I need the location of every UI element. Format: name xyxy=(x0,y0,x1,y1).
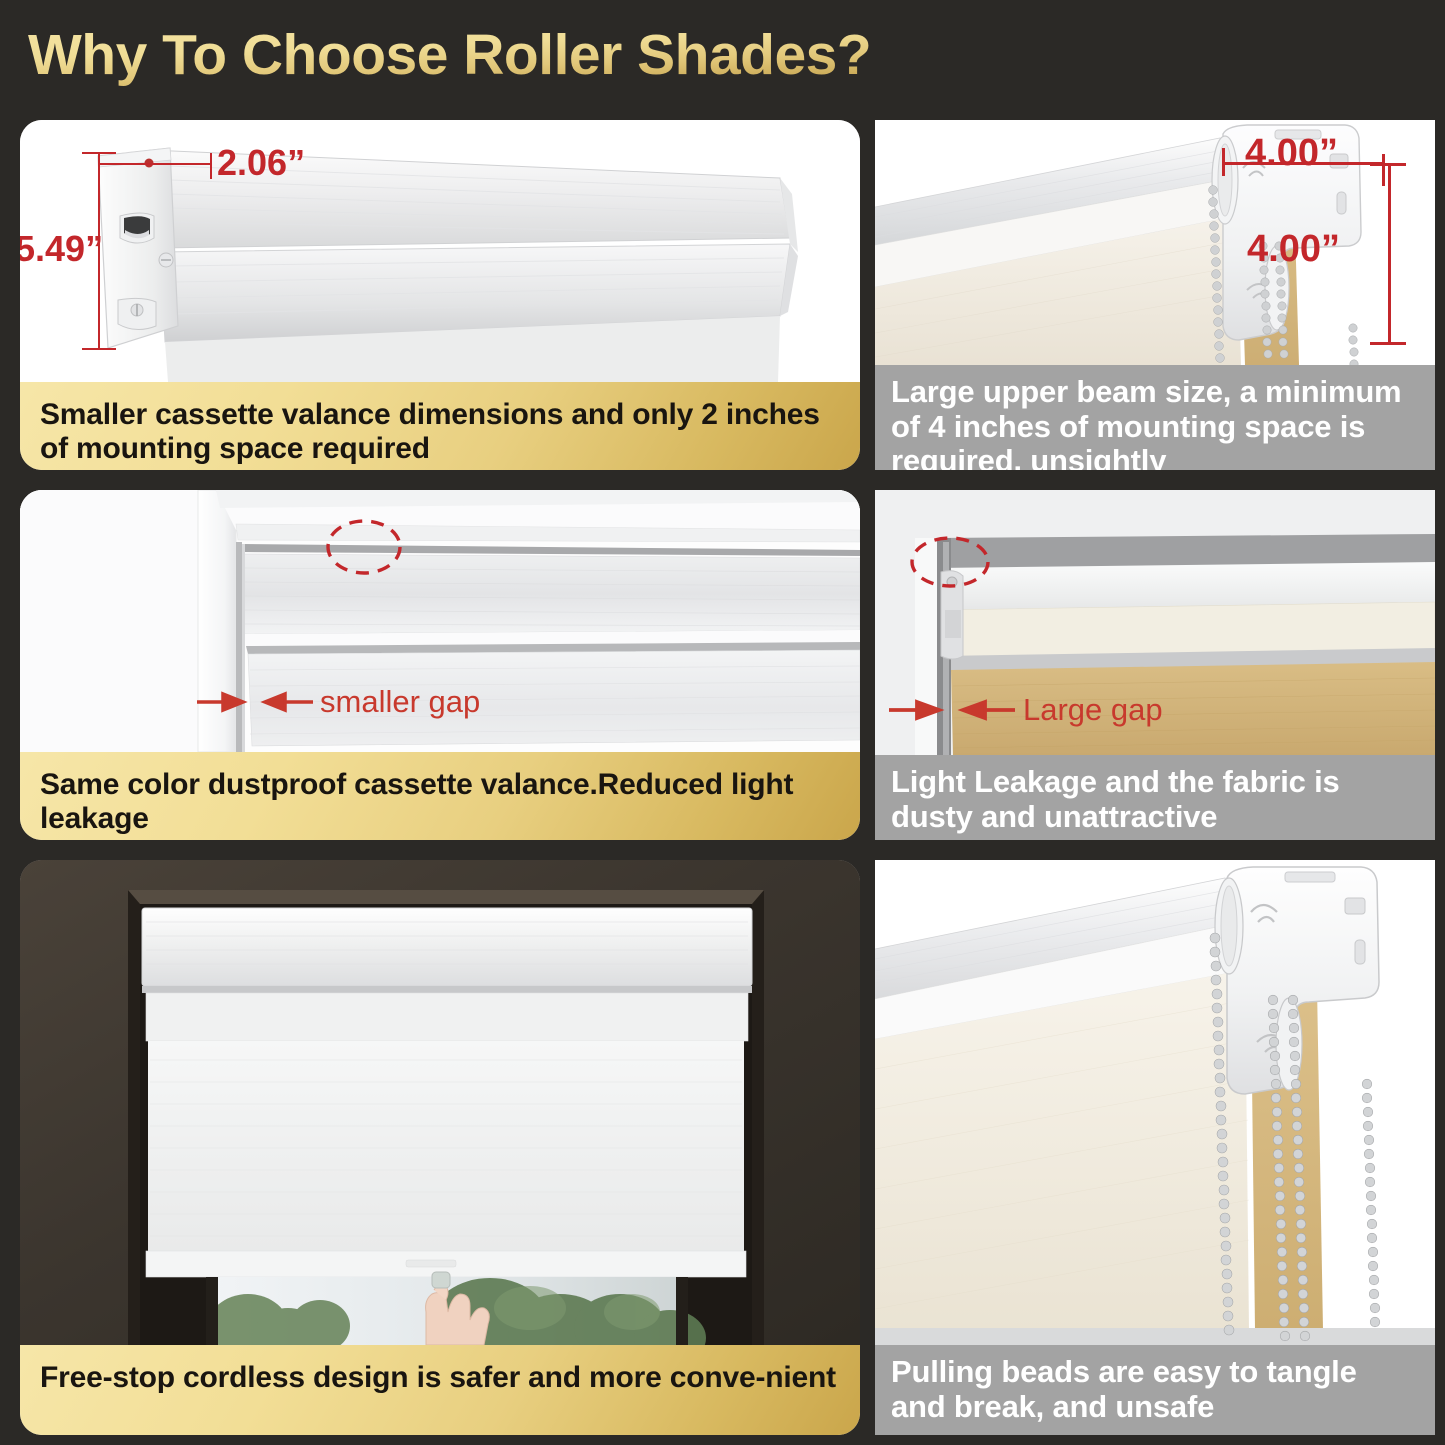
width-dimension-label: 4.00” xyxy=(1245,132,1338,175)
image-top-right xyxy=(875,120,1435,365)
caption-top-right-text: Large upper beam size, a minimum of 4 in… xyxy=(875,365,1435,470)
height-dimension-tick-bottom xyxy=(82,348,116,350)
panel-middle-right: Large gap Light Leakage and the fabric i… xyxy=(875,490,1435,840)
page-title-text: Why To Choose Roller Shades? xyxy=(28,22,1228,88)
height-dimension-line xyxy=(1388,163,1391,345)
width-dimension-tick-left xyxy=(1222,148,1225,176)
caption-middle-left: Same color dustproof cassette valance.Re… xyxy=(20,752,860,840)
width-dimension-tick-right xyxy=(1382,154,1385,186)
panel-top-left: 5.49” 2.06” Smaller cassette valance dim… xyxy=(20,120,860,470)
caption-middle-right: Light Leakage and the fabric is dusty an… xyxy=(875,755,1435,840)
width-dimension-tick-right xyxy=(210,153,212,179)
height-dimension-tick-bottom xyxy=(1370,342,1406,345)
caption-top-left-text: Smaller cassette valance dimensions and … xyxy=(20,382,860,465)
panel-bottom-right: Pulling beads are easy to tangle and bre… xyxy=(875,860,1435,1435)
panel-middle-left: smaller gap Same color dustproof cassett… xyxy=(20,490,860,840)
image-bottom-left xyxy=(20,860,860,1345)
large-beam-roller-shade-illustration xyxy=(875,120,1435,365)
caption-middle-right-text: Light Leakage and the fabric is dusty an… xyxy=(875,755,1435,834)
caption-bottom-right-text: Pulling beads are easy to tangle and bre… xyxy=(875,1345,1435,1424)
caption-top-left: Smaller cassette valance dimensions and … xyxy=(20,382,860,470)
panel-top-right: 4.00” 4.00” Large upper beam size, a min… xyxy=(875,120,1435,470)
page-title: Why To Choose Roller Shades? xyxy=(28,22,1228,94)
caption-top-right: Large upper beam size, a minimum of 4 in… xyxy=(875,365,1435,470)
width-dimension-line xyxy=(100,163,212,165)
smaller-gap-label: smaller gap xyxy=(320,684,480,720)
width-dimension-label: 2.06” xyxy=(217,142,305,184)
image-top-left xyxy=(20,120,860,382)
bead-chain-roller-shade-illustration xyxy=(875,860,1435,1345)
caption-bottom-right: Pulling beads are easy to tangle and bre… xyxy=(875,1345,1435,1435)
caption-bottom-left: Free-stop cordless design is safer and m… xyxy=(20,1345,860,1435)
panel-bottom-left: Free-stop cordless design is safer and m… xyxy=(20,860,860,1435)
height-dimension-tick-top xyxy=(1370,163,1406,166)
comparison-grid: 5.49” 2.06” Smaller cassette valance dim… xyxy=(0,110,1445,1445)
image-bottom-right xyxy=(875,860,1435,1345)
large-gap-label: Large gap xyxy=(1023,692,1163,728)
caption-bottom-left-text: Free-stop cordless design is safer and m… xyxy=(20,1345,856,1395)
height-dimension-tick-top xyxy=(82,152,116,154)
height-dimension-label: 4.00” xyxy=(1247,228,1340,271)
cassette-valance-illustration xyxy=(20,120,860,382)
caption-middle-left-text: Same color dustproof cassette valance.Re… xyxy=(20,752,860,835)
height-dimension-label: 5.49” xyxy=(20,228,103,270)
room-window-shade-hand-illustration xyxy=(20,860,860,1345)
